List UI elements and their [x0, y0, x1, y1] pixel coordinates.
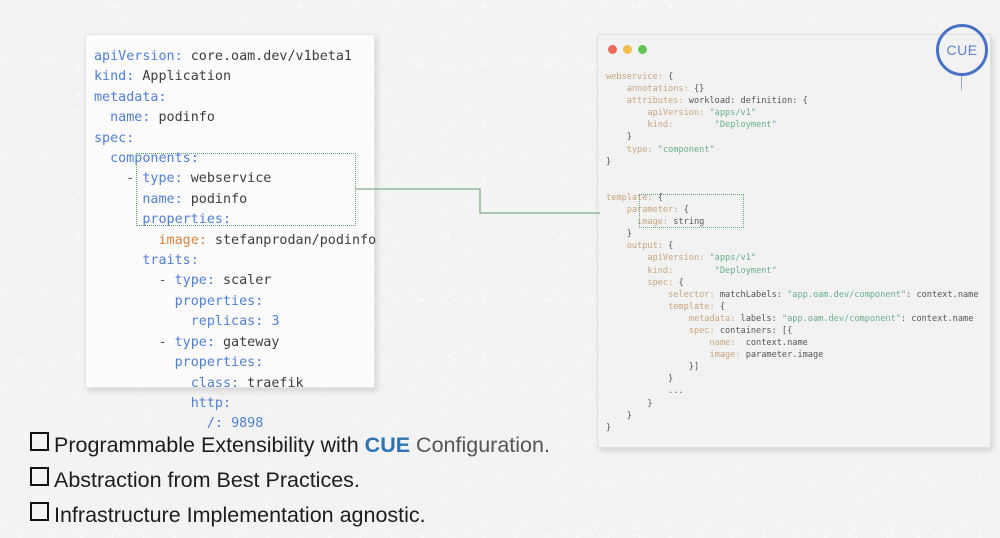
code-token: output: — [606, 241, 663, 251]
cue-badge: CUE — [936, 24, 988, 76]
code-token: { — [678, 205, 688, 215]
code-token: "component" — [658, 145, 715, 155]
code-token: parameter.image — [741, 350, 824, 360]
code-token: template: — [606, 193, 653, 203]
bullet-text-segment: Abstraction from Best Practices. — [54, 468, 360, 492]
bullet-text: Programmable Extensibility with CUE Conf… — [54, 430, 550, 460]
code-token: ... — [606, 386, 684, 396]
application-yaml-card: apiVersion: core.oam.dev/v1beta1 kind: A… — [85, 34, 375, 388]
code-token: name: — [94, 110, 150, 125]
code-token: "Deployment" — [715, 120, 777, 130]
code-token: webservice — [183, 171, 272, 186]
code-token: string — [668, 217, 704, 227]
bullet-square-icon — [30, 432, 49, 451]
code-token: - — [94, 171, 142, 186]
code-token: core.oam.dev/v1beta1 — [183, 49, 352, 64]
window-close-dot[interactable] — [608, 45, 617, 54]
cue-definition-card: webservice: { annotations: {} attributes… — [597, 34, 991, 448]
code-token: components: — [94, 151, 199, 166]
application-yaml-code: apiVersion: core.oam.dev/v1beta1 kind: A… — [94, 47, 376, 435]
code-token: type: — [175, 273, 215, 288]
code-token: : context.name — [906, 290, 978, 300]
code-token: metadata: — [94, 90, 167, 105]
bullet-text-segment: CUE — [365, 433, 410, 457]
code-token — [673, 120, 714, 130]
code-token: workload: definition: { — [684, 96, 808, 106]
cue-definition-code: webservice: { annotations: {} attributes… — [606, 71, 979, 434]
code-token: image: — [606, 350, 741, 360]
code-token: containers: [{ — [715, 326, 793, 336]
code-token: podinfo — [150, 110, 215, 125]
code-token: }] — [606, 362, 699, 372]
code-token: 3 — [271, 314, 279, 329]
code-token: { — [663, 241, 673, 251]
code-token: scaler — [215, 273, 271, 288]
code-token: context.name — [735, 338, 807, 348]
code-token: apiVersion: — [606, 253, 704, 263]
code-token: "app.oam.dev/component" — [782, 314, 901, 324]
code-token: } — [606, 229, 632, 239]
code-token: podinfo — [183, 192, 248, 207]
code-token: gateway — [215, 335, 280, 350]
bullet-text: Infrastructure Implementation agnostic. — [54, 500, 426, 530]
code-token: http: — [94, 396, 231, 411]
bullet-cue-configuration: Programmable Extensibility with CUE Conf… — [30, 430, 670, 460]
bullet-abstraction: Abstraction from Best Practices. — [30, 465, 670, 495]
code-token: stefanprodan/podinfo — [207, 233, 376, 248]
window-minimize-dot[interactable] — [623, 45, 632, 54]
window-titlebar — [598, 35, 990, 61]
bullet-square-icon — [30, 502, 49, 521]
code-token: parameter: — [606, 205, 678, 215]
code-token: - — [94, 335, 175, 350]
code-token: spec: — [606, 278, 673, 288]
code-token: apiVersion: — [606, 108, 704, 118]
code-token: : context.name — [901, 314, 973, 324]
code-token: "app.oam.dev/component" — [787, 290, 906, 300]
code-token: metadata: — [606, 314, 735, 324]
code-token: - — [94, 273, 175, 288]
code-token: spec: — [94, 131, 134, 146]
code-token: "Deployment" — [715, 266, 777, 276]
code-token: } — [606, 399, 653, 409]
code-token: { — [673, 278, 683, 288]
code-token: name: — [94, 192, 183, 207]
bullet-text-segment: Infrastructure Implementation agnostic. — [54, 503, 426, 527]
code-token: webservice: — [606, 72, 663, 82]
code-token: } — [606, 411, 632, 421]
code-token: } — [606, 132, 632, 142]
code-token: kind: — [606, 266, 673, 276]
code-token: {} — [689, 84, 705, 94]
code-token: image: — [94, 233, 207, 248]
code-token: image: — [606, 217, 668, 227]
code-token: class: — [94, 376, 239, 391]
code-token: "apps/v1" — [710, 108, 757, 118]
code-token: "apps/v1" — [710, 253, 757, 263]
code-token: { — [663, 72, 673, 82]
code-token: apiVersion: — [94, 49, 183, 64]
code-token: template: — [606, 302, 715, 312]
code-token: annotations: — [606, 84, 689, 94]
code-token: matchLabels: — [715, 290, 787, 300]
code-token: } — [606, 157, 611, 167]
code-token: replicas: — [94, 314, 263, 329]
code-token: kind: — [94, 69, 134, 84]
code-token: properties: — [94, 294, 263, 309]
code-token: type: — [175, 335, 215, 350]
bullet-square-icon — [30, 467, 49, 486]
code-token: traits: — [94, 253, 199, 268]
code-token: } — [606, 374, 673, 384]
code-token: properties: — [94, 355, 263, 370]
code-token: type: — [142, 171, 182, 186]
bullet-text-segment: Configuration. — [410, 433, 550, 457]
window-zoom-dot[interactable] — [638, 45, 647, 54]
code-token: name: — [606, 338, 735, 348]
bullet-list: Programmable Extensibility with CUE Conf… — [30, 430, 670, 535]
code-token: Application — [134, 69, 231, 84]
bullet-text-segment: Programmable Extensibility with — [54, 433, 365, 457]
cue-badge-tail — [961, 74, 962, 90]
code-token: labels: — [735, 314, 782, 324]
cue-badge-label: CUE — [946, 42, 977, 58]
code-token: { — [715, 302, 725, 312]
bullet-text: Abstraction from Best Practices. — [54, 465, 360, 495]
code-token: spec: — [606, 326, 715, 336]
code-token: { — [653, 193, 663, 203]
bullet-infrastructure-agnostic: Infrastructure Implementation agnostic. — [30, 500, 670, 530]
code-token — [673, 266, 714, 276]
code-token: properties: — [94, 212, 231, 227]
code-token: type: — [606, 145, 653, 155]
code-token: selector: — [606, 290, 715, 300]
code-token: kind: — [606, 120, 673, 130]
code-token: traefik — [239, 376, 304, 391]
code-token: attributes: — [606, 96, 684, 106]
